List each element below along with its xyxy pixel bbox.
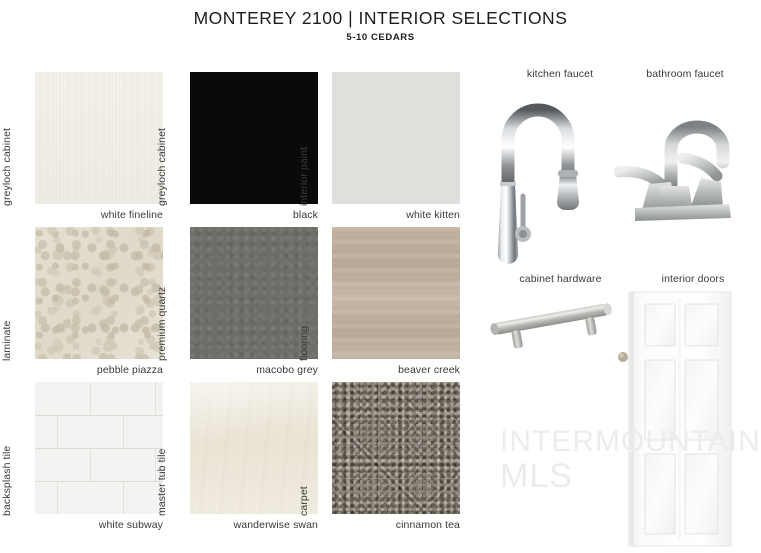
- material-swatch-grid: greyloch cabinet white fineline greyloch…: [0, 60, 470, 540]
- six-panel-door-icon: [625, 288, 735, 548]
- swatch-category-label: interior paint: [298, 192, 310, 206]
- swatch-color-chip[interactable]: [35, 72, 163, 204]
- swatch-name-label: white fineline: [13, 209, 163, 221]
- swatch-category-label: laminate: [1, 347, 13, 361]
- swatch-color-chip[interactable]: [35, 227, 163, 359]
- door-knob-icon: [617, 350, 629, 362]
- kitchen-faucet-image[interactable]: [480, 88, 590, 278]
- swatch-color-chip[interactable]: [332, 72, 460, 204]
- swatch-cell[interactable]: interior paint white kitten: [310, 72, 460, 232]
- board-header: MONTEREY 2100 | INTERIOR SELECTIONS 5-10…: [0, 8, 761, 43]
- page-title: MONTEREY 2100 | INTERIOR SELECTIONS: [0, 8, 761, 29]
- bathroom-faucet-icon: [605, 100, 745, 225]
- swatch-category-label: backsplash tile: [1, 502, 13, 516]
- swatch-name-label: white subway: [13, 519, 163, 531]
- bar-pull-icon: [482, 293, 622, 353]
- swatch-cell[interactable]: greyloch cabinet black: [168, 72, 318, 232]
- swatch-cell[interactable]: greyloch cabinet white fineline: [13, 72, 163, 232]
- product-selection-column: kitchen faucet bathroom faucet: [470, 60, 761, 548]
- swatch-cell[interactable]: backsplash tile: [13, 382, 163, 542]
- bathroom-faucet-label: bathroom faucet: [610, 68, 760, 80]
- swatch-cell[interactable]: carpet cinnamon tea: [310, 382, 460, 542]
- swatch-category-label: carpet: [298, 502, 310, 516]
- swatch-name-label: macobo grey: [168, 364, 318, 376]
- swatch-category-label: greyloch cabinet: [1, 192, 13, 206]
- kitchen-faucet-label: kitchen faucet: [490, 68, 630, 80]
- swatch-color-chip[interactable]: [35, 382, 163, 514]
- swatch-cell[interactable]: laminate pebble piazza: [13, 227, 163, 387]
- swatch-cell[interactable]: premium quartz macobo grey: [168, 227, 318, 387]
- swatch-category-label: flooring: [298, 347, 310, 361]
- swatch-color-chip[interactable]: [332, 227, 460, 359]
- kitchen-faucet-icon: [480, 88, 590, 278]
- swatch-cell[interactable]: master tub tile wanderwise swan: [168, 382, 318, 542]
- subway-tile-pattern: [35, 382, 163, 514]
- cabinet-hardware-image[interactable]: [482, 293, 622, 353]
- page-subtitle: 5-10 CEDARS: [0, 32, 761, 43]
- swatch-name-label: cinnamon tea: [310, 519, 460, 531]
- interior-door-image[interactable]: [625, 288, 735, 548]
- swatch-name-label: black: [168, 209, 318, 221]
- swatch-color-chip[interactable]: [332, 382, 460, 514]
- bathroom-faucet-image[interactable]: [605, 100, 745, 225]
- swatch-name-label: beaver creek: [310, 364, 460, 376]
- swatch-cell[interactable]: flooring beaver creek: [310, 227, 460, 387]
- cabinet-hardware-label: cabinet hardware: [488, 273, 633, 285]
- swatch-name-label: white kitten: [310, 209, 460, 221]
- swatch-name-label: wanderwise swan: [168, 519, 318, 531]
- interior-doors-label: interior doors: [628, 273, 758, 285]
- swatch-name-label: pebble piazza: [13, 364, 163, 376]
- swatch-category-label: master tub tile: [156, 502, 168, 516]
- swatch-category-label: premium quartz: [156, 347, 168, 361]
- swatch-category-label: greyloch cabinet: [156, 192, 168, 206]
